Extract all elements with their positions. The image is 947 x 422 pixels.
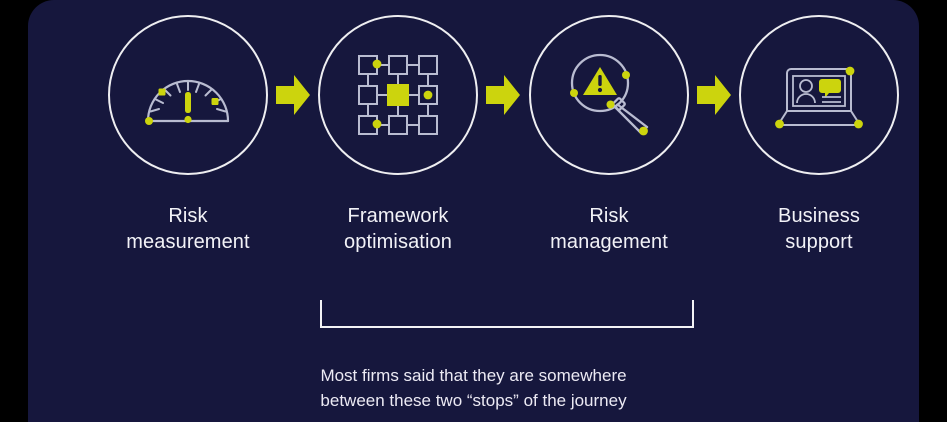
arrow-right-icon-2: [486, 75, 520, 115]
step-label-line1: Risk: [73, 203, 303, 229]
caption-text: Most firms said that they are somewhere …: [28, 363, 919, 413]
span-bracket: [320, 300, 694, 328]
arrow-right-icon-3: [697, 75, 731, 115]
step-label-line1: Framework: [283, 203, 513, 229]
step-business-support[interactable]: [739, 15, 899, 175]
arrow-right-icon-1: [276, 75, 310, 115]
step-framework-optimisation[interactable]: [318, 15, 478, 175]
caption-line1: Most firms said that they are somewhere: [28, 363, 919, 388]
step-label-line2: support: [704, 229, 919, 255]
step-risk-measurement[interactable]: [108, 15, 268, 175]
caption-line2: between these two “stops” of the journey: [28, 388, 919, 413]
infographic-canvas: Risk measurement Framework optimisation …: [28, 0, 919, 422]
step-label-line1: Business: [704, 203, 919, 229]
step-label-business-support: Business support: [704, 203, 919, 255]
step-risk-management[interactable]: [529, 15, 689, 175]
step-label-line2: measurement: [73, 229, 303, 255]
step-label-line2: optimisation: [283, 229, 513, 255]
grid-nodes-icon: [346, 43, 450, 147]
step-label-risk-measurement: Risk measurement: [73, 203, 303, 255]
screenshot-frame: Risk measurement Framework optimisation …: [0, 0, 947, 422]
step-label-framework-optimisation: Framework optimisation: [283, 203, 513, 255]
step-label-risk-management: Risk management: [494, 203, 724, 255]
step-label-line2: management: [494, 229, 724, 255]
step-label-line1: Risk: [494, 203, 724, 229]
speedometer-icon: [136, 43, 240, 147]
laptop-chat-icon: [767, 43, 871, 147]
magnifier-warning-icon: [557, 43, 661, 147]
